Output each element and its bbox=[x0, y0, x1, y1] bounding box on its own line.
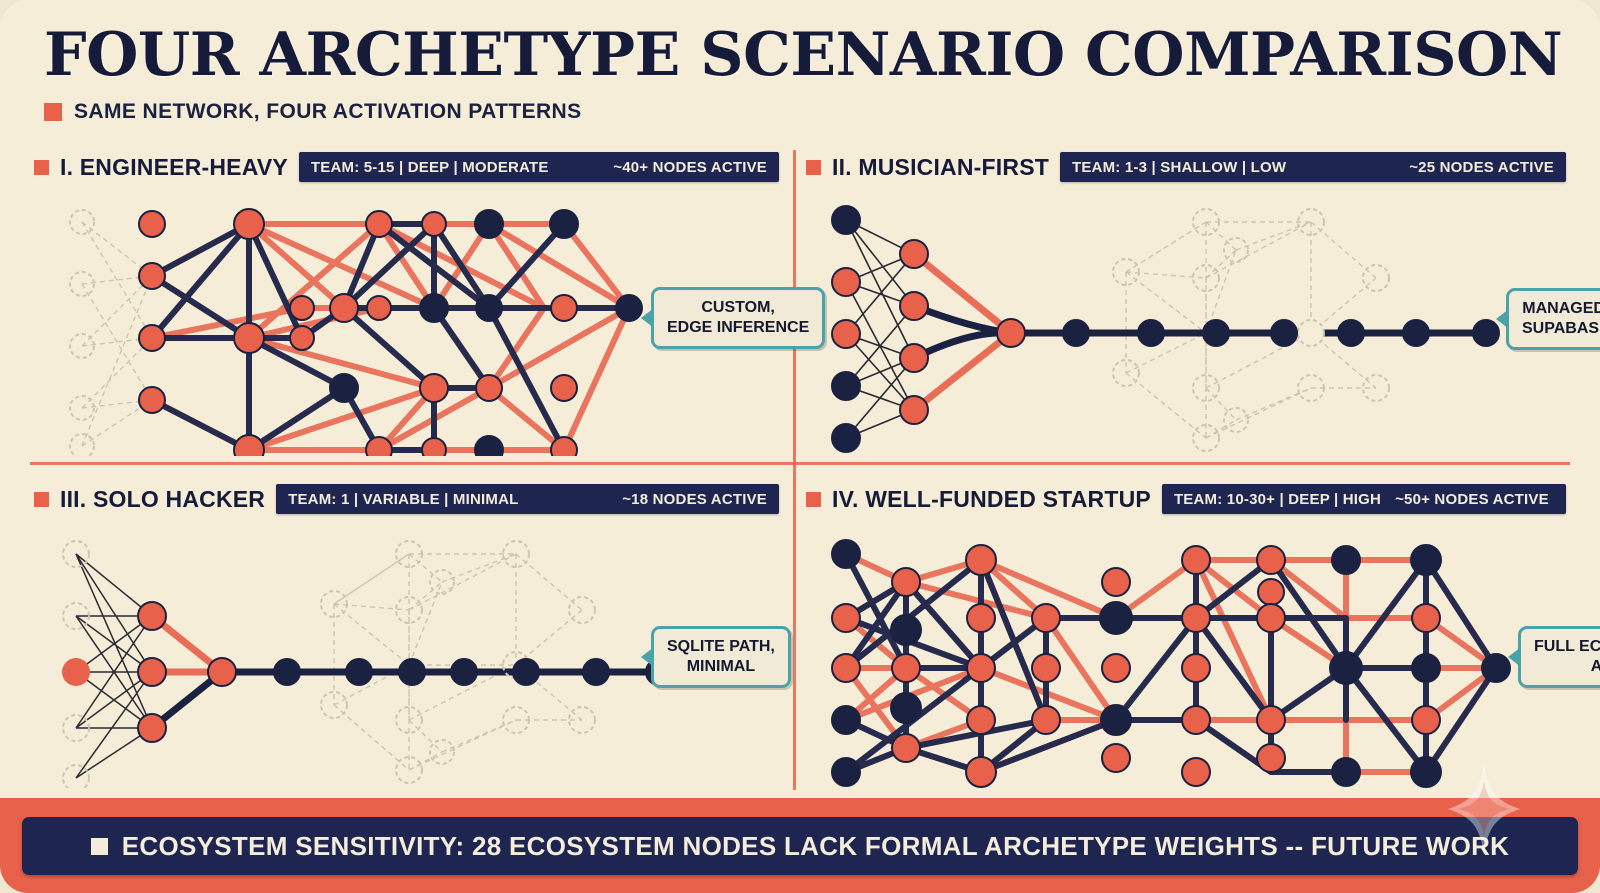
poster-root: FOUR ARCHETYPE SCENARIO COMPARISON SAME … bbox=[0, 0, 1600, 893]
panel-header: III. SOLO HACKER TEAM: 1 | VARIABLE | MI… bbox=[34, 482, 779, 516]
network-canvas-4: FULL ECOSYSTEM, AWS bbox=[806, 520, 1566, 788]
page-subtitle: SAME NETWORK, FOUR ACTIVATION PATTERNS bbox=[74, 100, 582, 124]
panel-title: III. SOLO HACKER bbox=[60, 486, 265, 513]
panel-solo-hacker: III. SOLO HACKER TEAM: 1 | VARIABLE | MI… bbox=[34, 482, 779, 787]
page-title: FOUR ARCHETYPE SCENARIO COMPARISON bbox=[44, 20, 1562, 90]
callout-2: MANAGED, SUPABASE bbox=[1506, 288, 1600, 350]
footer-text: ECOSYSTEM SENSITIVITY: 28 ECOSYSTEM NODE… bbox=[122, 831, 1510, 862]
square-bullet-icon bbox=[44, 103, 62, 121]
subtitle-row: SAME NETWORK, FOUR ACTIVATION PATTERNS bbox=[44, 100, 582, 124]
callout-line-2: EDGE INFERENCE bbox=[667, 318, 809, 338]
panel-musician-first: II. MUSICIAN-FIRST TEAM: 1-3 | SHALLOW |… bbox=[806, 150, 1566, 455]
callout-line-1: MANAGED, bbox=[1522, 299, 1600, 319]
callout-line-2: AWS bbox=[1534, 657, 1600, 677]
panel-header: IV. WELL-FUNDED STARTUP TEAM: 10-30+ | D… bbox=[806, 482, 1566, 516]
callout-tail-icon bbox=[1508, 647, 1521, 667]
panel-title: IV. WELL-FUNDED STARTUP bbox=[832, 486, 1151, 513]
square-bullet-icon bbox=[91, 838, 108, 855]
network-canvas-3: SQLITE PATH, MINIMAL bbox=[34, 520, 779, 788]
square-bullet-icon bbox=[806, 160, 821, 175]
callout-line-1: CUSTOM, bbox=[667, 298, 809, 318]
network-canvas-1: CUSTOM, EDGE INFERENCE bbox=[34, 188, 779, 456]
panel-well-funded-startup: IV. WELL-FUNDED STARTUP TEAM: 10-30+ | D… bbox=[806, 482, 1566, 787]
footer-band: ECOSYSTEM SENSITIVITY: 28 ECOSYSTEM NODE… bbox=[0, 798, 1600, 893]
panel-badge: TEAM: 1-3 | SHALLOW | LOW ~25 NODES ACTI… bbox=[1060, 152, 1566, 182]
panel-title: I. ENGINEER-HEAVY bbox=[60, 154, 288, 181]
square-bullet-icon bbox=[806, 492, 821, 507]
square-bullet-icon bbox=[34, 492, 49, 507]
panel-meta: TEAM: 5-15 | DEEP | MODERATE bbox=[311, 159, 549, 176]
panel-node-count: ~18 NODES ACTIVE bbox=[622, 491, 767, 508]
callout-line-1: FULL ECOSYSTEM, bbox=[1534, 637, 1600, 657]
vertical-divider bbox=[793, 150, 796, 790]
panel-node-count: ~25 NODES ACTIVE bbox=[1409, 159, 1554, 176]
network-canvas-2: MANAGED, SUPABASE bbox=[806, 188, 1566, 456]
callout-4: FULL ECOSYSTEM, AWS bbox=[1518, 626, 1600, 688]
panel-node-count: ~50+ NODES ACTIVE bbox=[1395, 491, 1549, 508]
network-graph-2 bbox=[806, 188, 1566, 456]
callout-line-2: SUPABASE bbox=[1522, 319, 1600, 339]
footer-note: ECOSYSTEM SENSITIVITY: 28 ECOSYSTEM NODE… bbox=[22, 817, 1578, 875]
horizontal-divider bbox=[30, 462, 1570, 465]
panel-badge: TEAM: 1 | VARIABLE | MINIMAL ~18 NODES A… bbox=[276, 484, 779, 514]
panel-meta: TEAM: 1 | VARIABLE | MINIMAL bbox=[288, 491, 518, 508]
square-bullet-icon bbox=[34, 160, 49, 175]
callout-line-1: SQLITE PATH, bbox=[667, 637, 775, 657]
network-graph-4 bbox=[806, 520, 1566, 788]
callout-tail-icon bbox=[641, 308, 654, 328]
callout-1: CUSTOM, EDGE INFERENCE bbox=[651, 287, 825, 349]
callout-3: SQLITE PATH, MINIMAL bbox=[651, 626, 791, 688]
panel-meta: TEAM: 1-3 | SHALLOW | LOW bbox=[1072, 159, 1286, 176]
callout-line-2: MINIMAL bbox=[667, 657, 775, 677]
panel-node-count: ~40+ NODES ACTIVE bbox=[613, 159, 767, 176]
panel-badge: TEAM: 5-15 | DEEP | MODERATE ~40+ NODES … bbox=[299, 152, 779, 182]
panel-meta: TEAM: 10-30+ | DEEP | HIGH bbox=[1174, 491, 1381, 508]
panel-engineer-heavy: I. ENGINEER-HEAVY TEAM: 5-15 | DEEP | MO… bbox=[34, 150, 779, 455]
panel-header: II. MUSICIAN-FIRST TEAM: 1-3 | SHALLOW |… bbox=[806, 150, 1566, 184]
panel-badge: TEAM: 10-30+ | DEEP | HIGH ~50+ NODES AC… bbox=[1162, 484, 1566, 514]
panel-header: I. ENGINEER-HEAVY TEAM: 5-15 | DEEP | MO… bbox=[34, 150, 779, 184]
callout-tail-icon bbox=[1496, 309, 1509, 329]
panel-title: II. MUSICIAN-FIRST bbox=[832, 154, 1049, 181]
callout-tail-icon bbox=[641, 647, 654, 667]
